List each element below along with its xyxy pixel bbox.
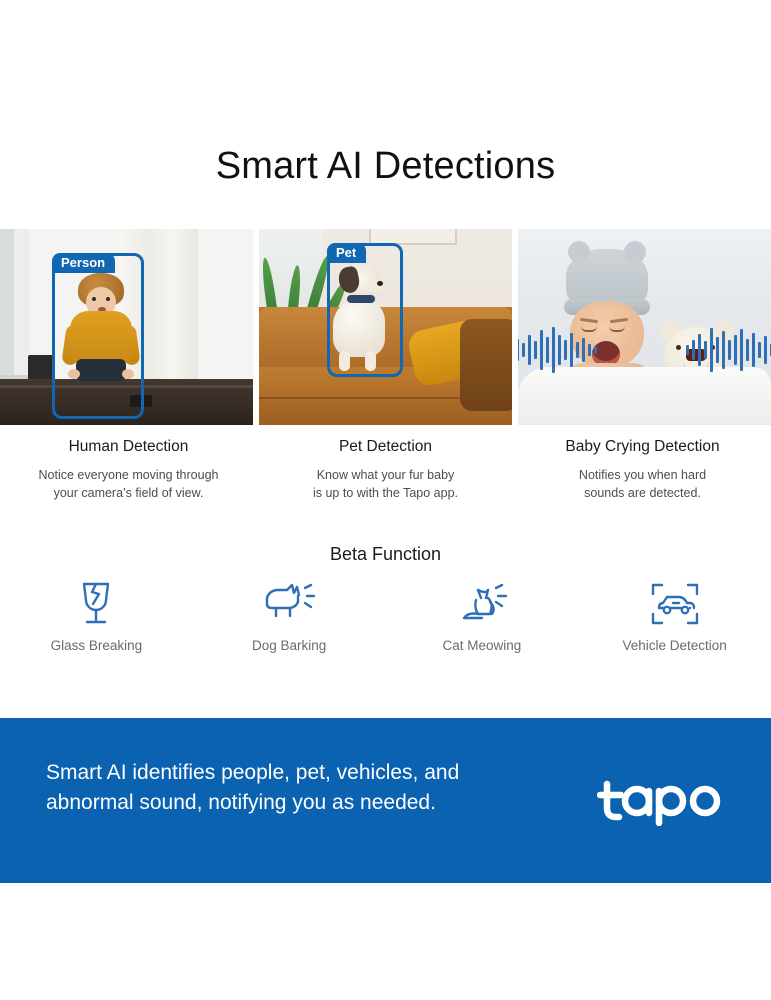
dog-barking-icon <box>193 578 386 630</box>
beta-item-dog-barking[interactable]: Dog Barking <box>193 578 386 653</box>
caption-line-2: sounds are detected. <box>584 486 701 500</box>
bottom-banner: Smart AI identifies people, pet, vehicle… <box>0 718 771 883</box>
page-title: Smart AI Detections <box>0 145 771 188</box>
caption-baby: Baby Crying Detection Notifies you when … <box>514 438 771 502</box>
caption-line-2: is up to with the Tapo app. <box>313 486 458 500</box>
detection-tile-baby <box>518 229 771 425</box>
bed-blanket <box>518 367 771 425</box>
caption-line-1: Notifies you when hard <box>579 468 706 482</box>
detection-box-pet: Pet <box>327 243 403 377</box>
beta-item-label: Glass Breaking <box>0 638 193 653</box>
beta-function-row: Glass Breaking Dog Barking <box>0 578 771 653</box>
caption-line-1: Notice everyone moving through <box>39 468 219 482</box>
caption-body: Notifies you when hard sounds are detect… <box>514 466 771 502</box>
beta-item-cat-meowing[interactable]: Cat Meowing <box>386 578 579 653</box>
caption-line-2: your camera’s field of view. <box>54 486 204 500</box>
sound-waveform-right <box>686 325 771 375</box>
caption-body: Know what your fur baby is up to with th… <box>257 466 514 502</box>
beta-item-label: Cat Meowing <box>386 638 579 653</box>
caption-heading: Human Detection <box>0 438 257 456</box>
caption-heading: Pet Detection <box>257 438 514 456</box>
beta-item-label: Dog Barking <box>193 638 386 653</box>
beta-item-glass-breaking[interactable]: Glass Breaking <box>0 578 193 653</box>
banner-line-1: Smart AI identifies people, pet, vehicle… <box>46 761 459 784</box>
detection-label-pet: Pet <box>327 243 366 263</box>
sound-waveform-left <box>518 325 597 375</box>
detection-tile-human: Person <box>0 229 253 425</box>
sofa-armrest <box>460 319 512 411</box>
banner-line-2: abnormal sound, notifying you as needed. <box>46 791 436 814</box>
banner-message: Smart AI identifies people, pet, vehicle… <box>46 758 546 819</box>
detection-label-person: Person <box>52 253 115 273</box>
caption-body: Notice everyone moving through your came… <box>0 466 257 502</box>
cat-meowing-icon <box>386 578 579 630</box>
caption-human: Human Detection Notice everyone moving t… <box>0 438 257 502</box>
detection-image-row: Person <box>0 229 771 425</box>
caption-line-1: Know what your fur baby <box>317 468 455 482</box>
detection-tile-pet: Pet <box>259 229 512 425</box>
caption-heading: Baby Crying Detection <box>514 438 771 456</box>
vehicle-detection-icon <box>578 578 771 630</box>
broken-glass-icon <box>0 578 193 630</box>
teddy-eye <box>676 345 681 350</box>
promo-page: Smart AI Detections <box>0 0 771 1000</box>
detection-box-person: Person <box>52 253 144 419</box>
detection-captions: Human Detection Notice everyone moving t… <box>0 438 771 502</box>
caption-pet: Pet Detection Know what your fur baby is… <box>257 438 514 502</box>
scene-bed <box>518 229 771 425</box>
beta-item-label: Vehicle Detection <box>578 638 771 653</box>
tapo-logo <box>597 778 723 826</box>
beta-item-vehicle-detection[interactable]: Vehicle Detection <box>578 578 771 653</box>
beta-section-title: Beta Function <box>0 544 771 565</box>
